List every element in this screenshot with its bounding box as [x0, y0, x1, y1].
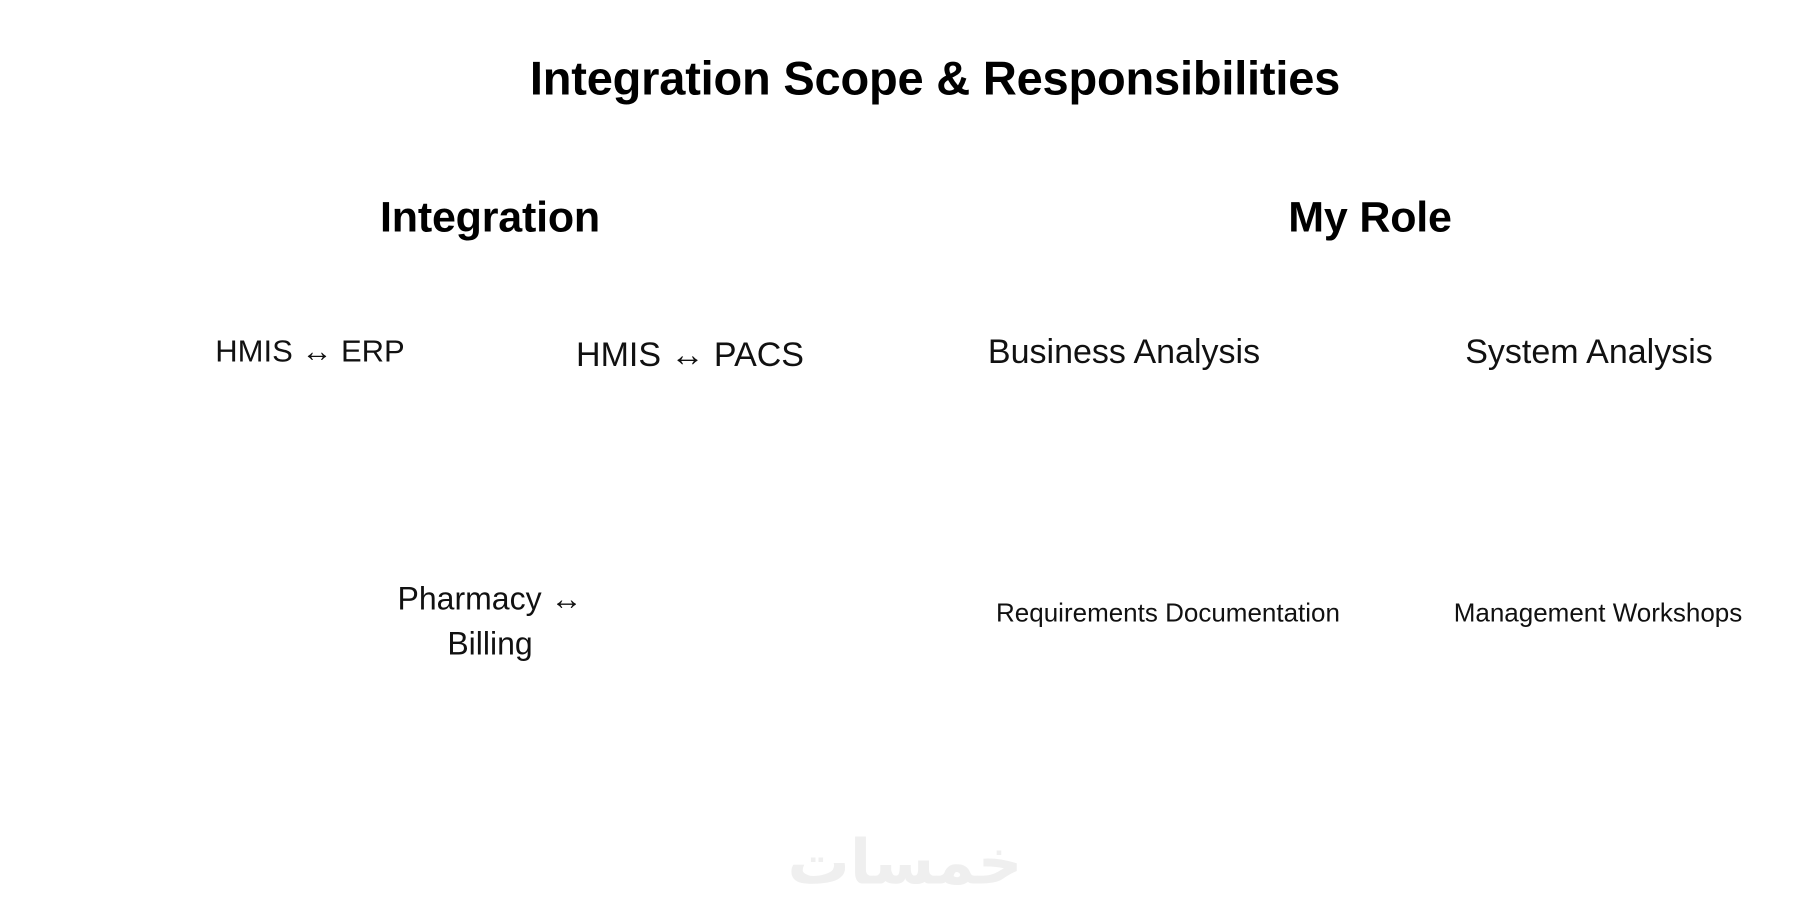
integration-item-pharmacy-billing: Pharmacy ↔ Billing [375, 577, 605, 668]
my-role-item-requirements-documentation: Requirements Documentation [996, 598, 1340, 629]
integration-item-hmis-erp: HMIS ↔ ERP [215, 334, 404, 371]
column-heading-integration: Integration [380, 193, 600, 244]
khamsat-watermark: خمسات [788, 826, 1023, 899]
column-heading-my-role: My Role [1288, 193, 1451, 244]
integration-item-hmis-pacs: HMIS ↔ PACS [576, 335, 804, 375]
my-role-item-management-workshops: Management Workshops [1454, 598, 1743, 629]
slide-canvas: Integration Scope & Responsibilities Int… [0, 0, 1800, 900]
my-role-item-business-analysis: Business Analysis [988, 332, 1260, 372]
my-role-item-system-analysis: System Analysis [1465, 332, 1713, 372]
page-title: Integration Scope & Responsibilities [530, 50, 1340, 105]
